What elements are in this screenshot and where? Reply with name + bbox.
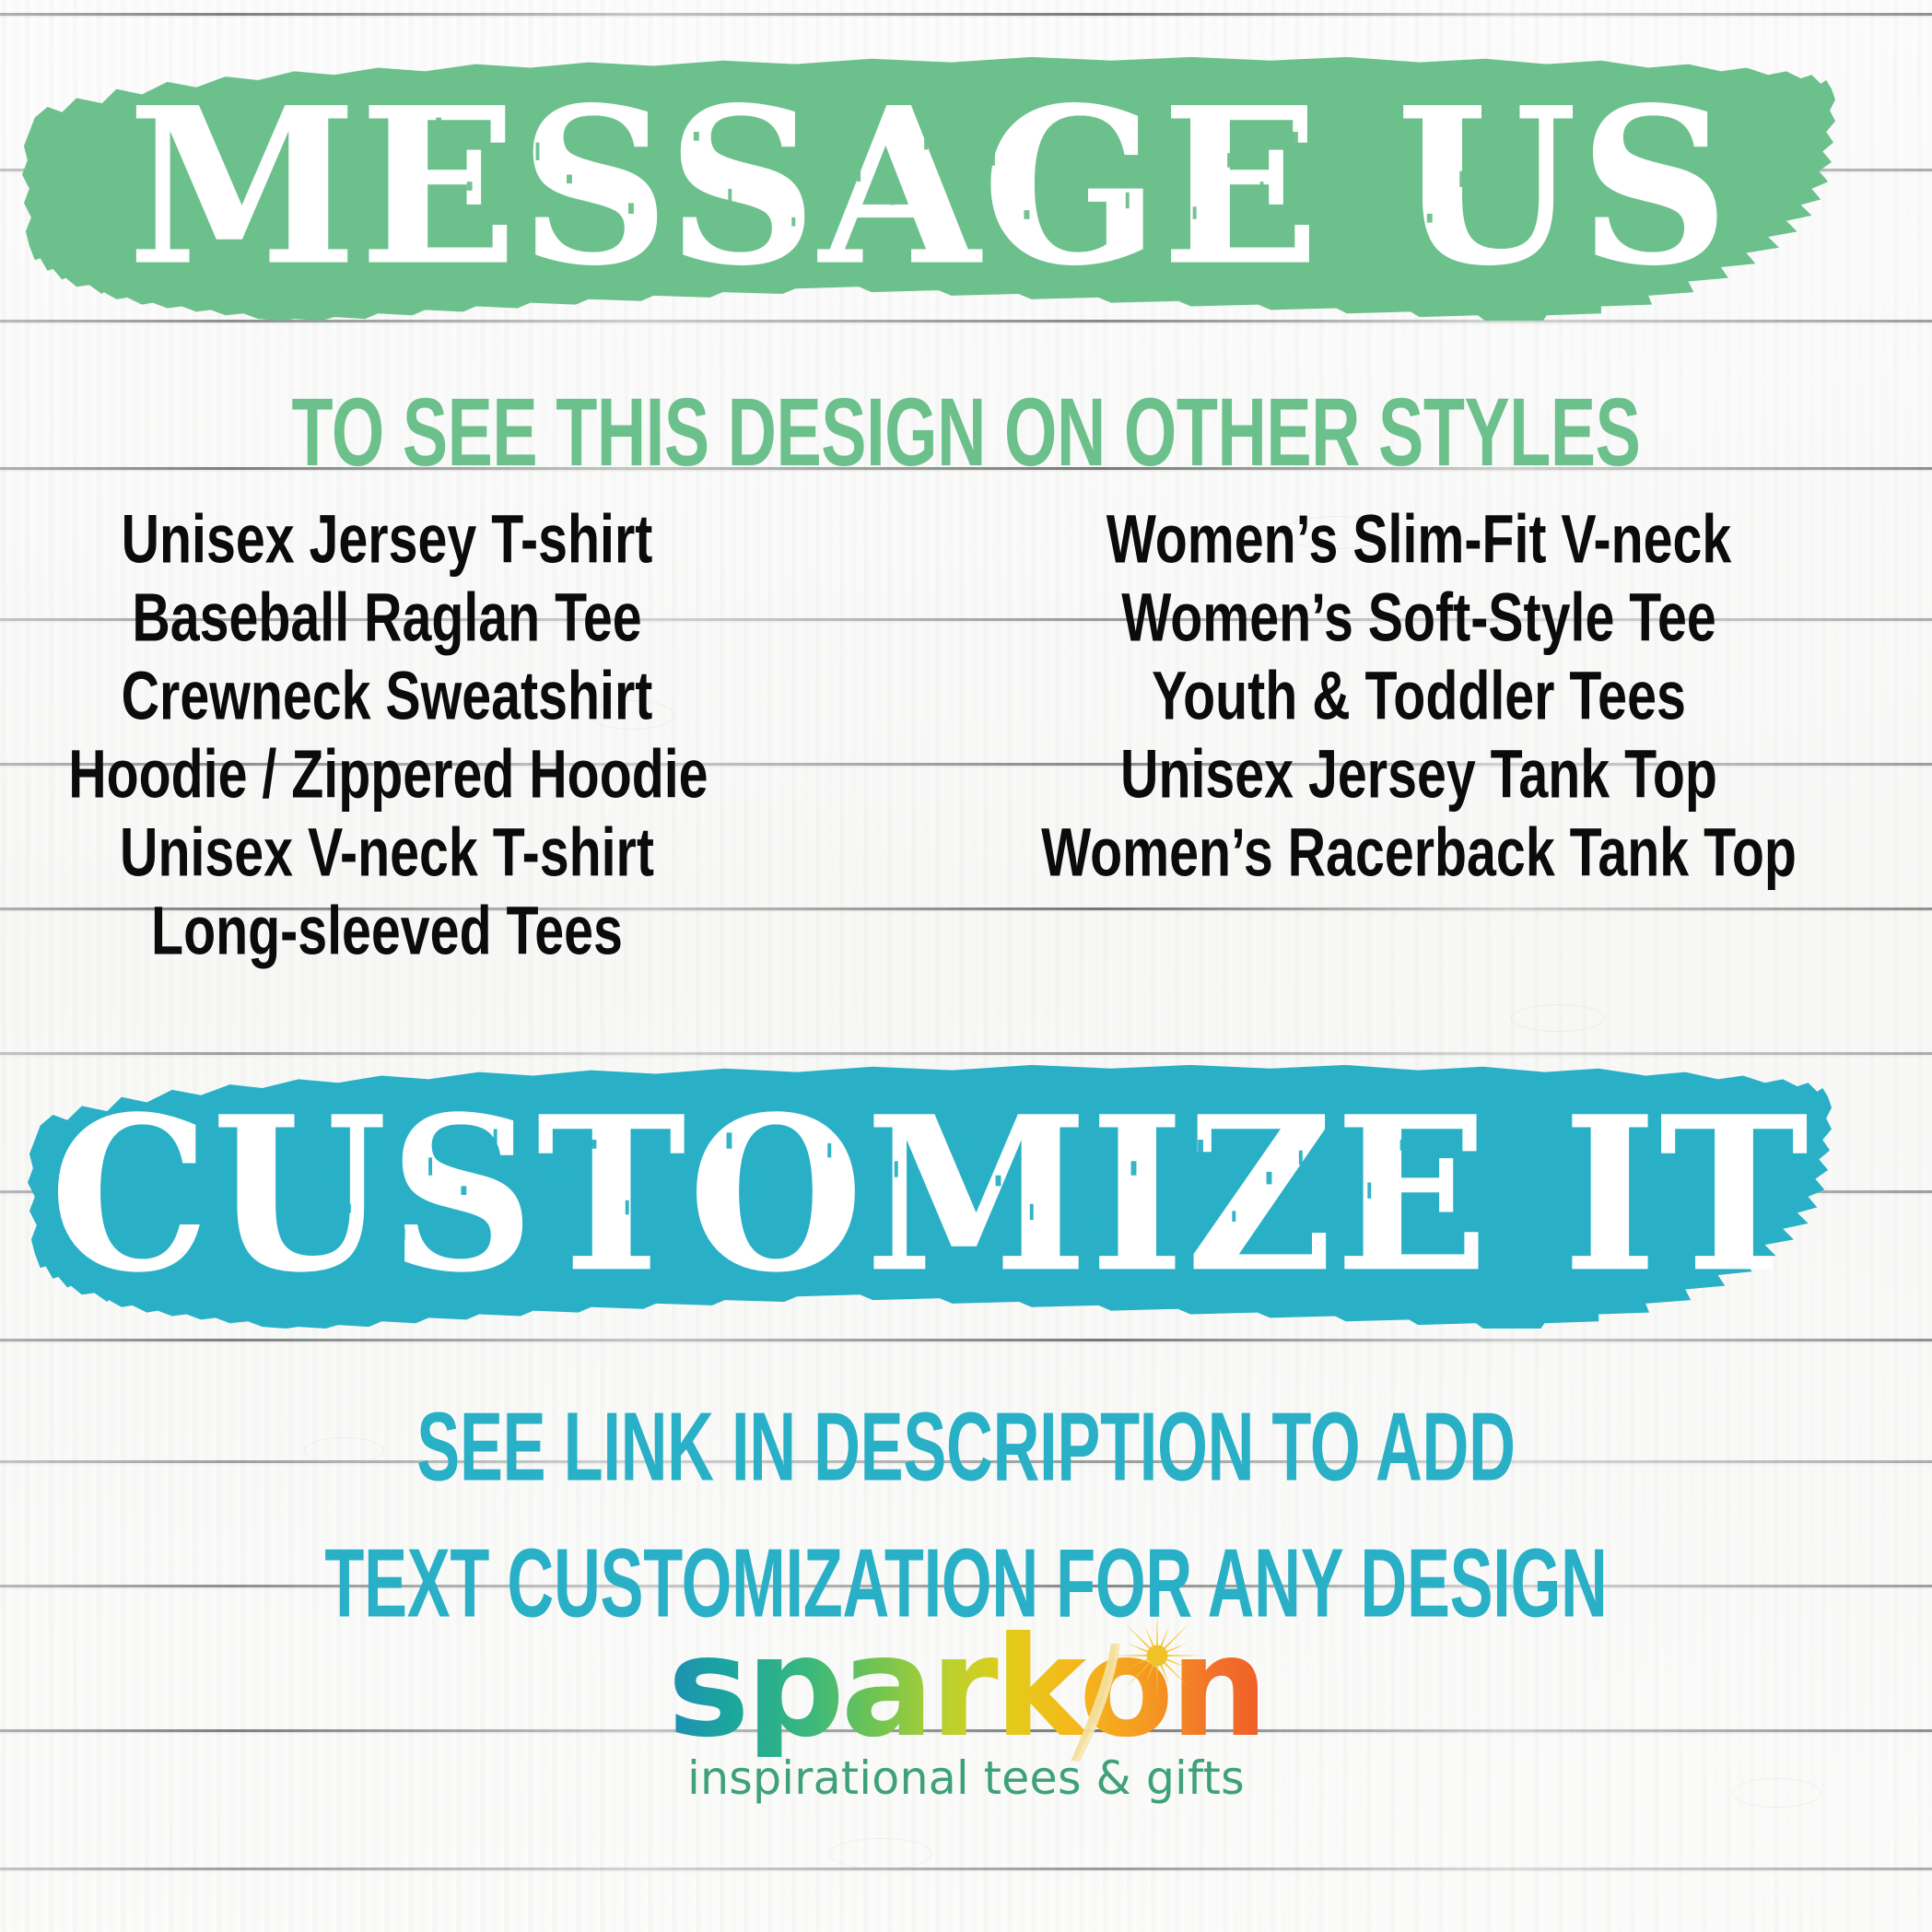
message-us-banner: MESSAGE US [22, 53, 1837, 321]
logo-tagline: inspirational tees & gifts [19, 1751, 1913, 1805]
message-us-subtitle: TO SEE THIS DESIGN ON OTHER STYLES [97, 385, 1835, 482]
wood-knot [829, 1838, 932, 1869]
poster-canvas: MESSAGE US TO [0, 0, 1932, 1932]
product-list-left: Unisex Jersey T-shirtBaseball Raglan Tee… [37, 511, 737, 981]
customize-it-label: CUSTOMIZE IT [50, 1089, 1810, 1301]
brand-logo: sparkon inspirational tees & gifts [0, 1619, 1932, 1805]
product-style-item: Baseball Raglan Tee [68, 584, 706, 652]
plank-seam [0, 1868, 1932, 1870]
product-style-item: Hoodie / Zippered Hoodie [68, 741, 706, 809]
wood-knot [1511, 1004, 1605, 1032]
product-style-item: Youth & Toddler Tees [983, 662, 1855, 731]
customize-subtitle-line-1: SEE LINK IN DESCRIPTION TO ADD [116, 1379, 1816, 1516]
logo-wordmark: sparkon [667, 1619, 1264, 1757]
message-us-label: MESSAGE US [128, 79, 1732, 294]
product-style-item: Women’s Soft-Style Tee [983, 584, 1855, 652]
product-style-item: Unisex Jersey T-shirt [68, 506, 706, 574]
customize-it-banner: CUSTOMIZE IT [28, 1061, 1833, 1329]
product-style-item: Unisex Jersey Tank Top [983, 741, 1855, 809]
product-style-item: Crewneck Sweatshirt [68, 662, 706, 731]
product-style-item: Women’s Slim-Fit V-neck [983, 506, 1855, 574]
product-style-item: Long-sleeved Tees [68, 897, 706, 966]
plank-seam [0, 13, 1932, 16]
product-style-item: Unisex V-neck T-shirt [68, 819, 706, 887]
product-list-right: Women’s Slim-Fit V-neckWomen’s Soft-Styl… [940, 511, 1898, 903]
product-style-lists: Unisex Jersey T-shirtBaseball Raglan Tee… [0, 511, 1932, 898]
plank-seam [0, 1339, 1932, 1341]
plank-seam [0, 1052, 1932, 1055]
product-style-item: Women’s Racerback Tank Top [983, 819, 1855, 887]
